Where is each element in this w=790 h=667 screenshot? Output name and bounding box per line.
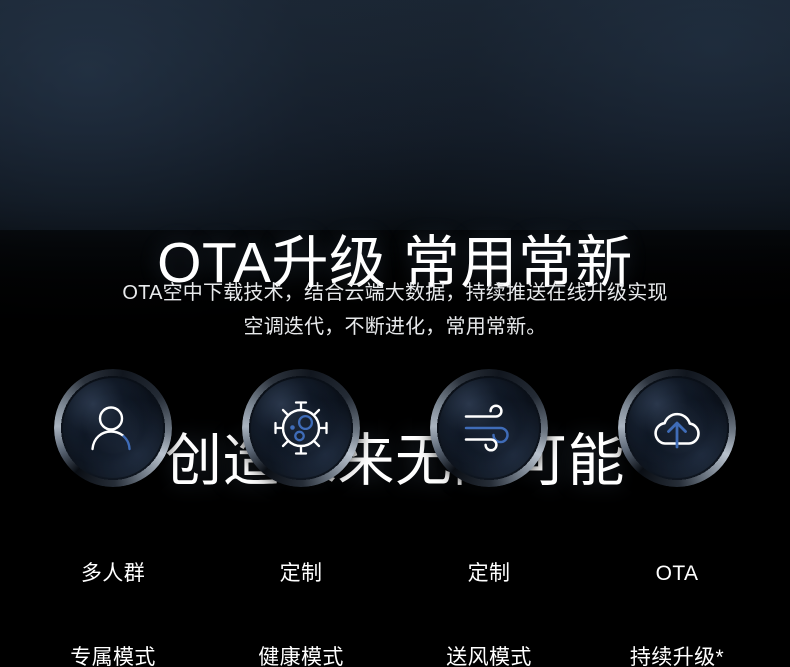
feature-title-line-2: 送风模式 [446,644,532,667]
feature-title: OTA 持续升级* [630,504,724,667]
feature-title-line-1: OTA [630,560,724,588]
feature-title-line-1: 定制 [446,560,532,588]
feature-item-ota-upgrade: OTA 持续升级* 自动升级 未来无限可能 [586,372,768,667]
feature-title: 定制 健康模式 [258,504,344,667]
feature-title: 定制 送风模式 [446,504,532,667]
feature-title-line-2: 健康模式 [258,644,344,667]
feature-title-line-2: 持续升级* [630,644,724,667]
feature-title-line-2: 专属模式 [70,644,156,667]
feature-title-line-1: 定制 [258,560,344,588]
description-paragraph: OTA空中下载技术，结合云端大数据，持续推送在线升级实现 空调迭代，不断进化，常… [0,276,790,344]
cloud-upload-icon [648,399,706,457]
feature-title-line-1: 多人群 [70,560,156,588]
feature-item-airflow-mode: 定制 送风模式 想吹吹得到 想避避得开 [398,372,580,667]
ota-feature-poster: OTA升级 常用常新 创造未来无限可能 OTA空中下载技术，结合云端大数据，持续… [0,0,790,667]
feature-item-multi-user: 多人群 专属模式 老人、小孩、宠物 等专属开机模式 [22,372,204,667]
feature-icon-orb [621,372,733,484]
description-line-2: 空调迭代，不断进化，常用常新。 [0,310,790,344]
feature-item-health-mode: 定制 健康模式 除菌、清洁均 可独立开启 [210,372,392,667]
virus-germ-icon [272,399,330,457]
feature-icon-orb [433,372,545,484]
wind-airflow-icon [460,399,518,457]
feature-title: 多人群 专属模式 [70,504,156,667]
feature-icon-orb [57,372,169,484]
feature-icon-orb [245,372,357,484]
description-line-1: OTA空中下载技术，结合云端大数据，持续推送在线升级实现 [0,276,790,310]
user-person-icon [84,399,142,457]
feature-list: 多人群 专属模式 老人、小孩、宠物 等专属开机模式 [0,372,790,667]
